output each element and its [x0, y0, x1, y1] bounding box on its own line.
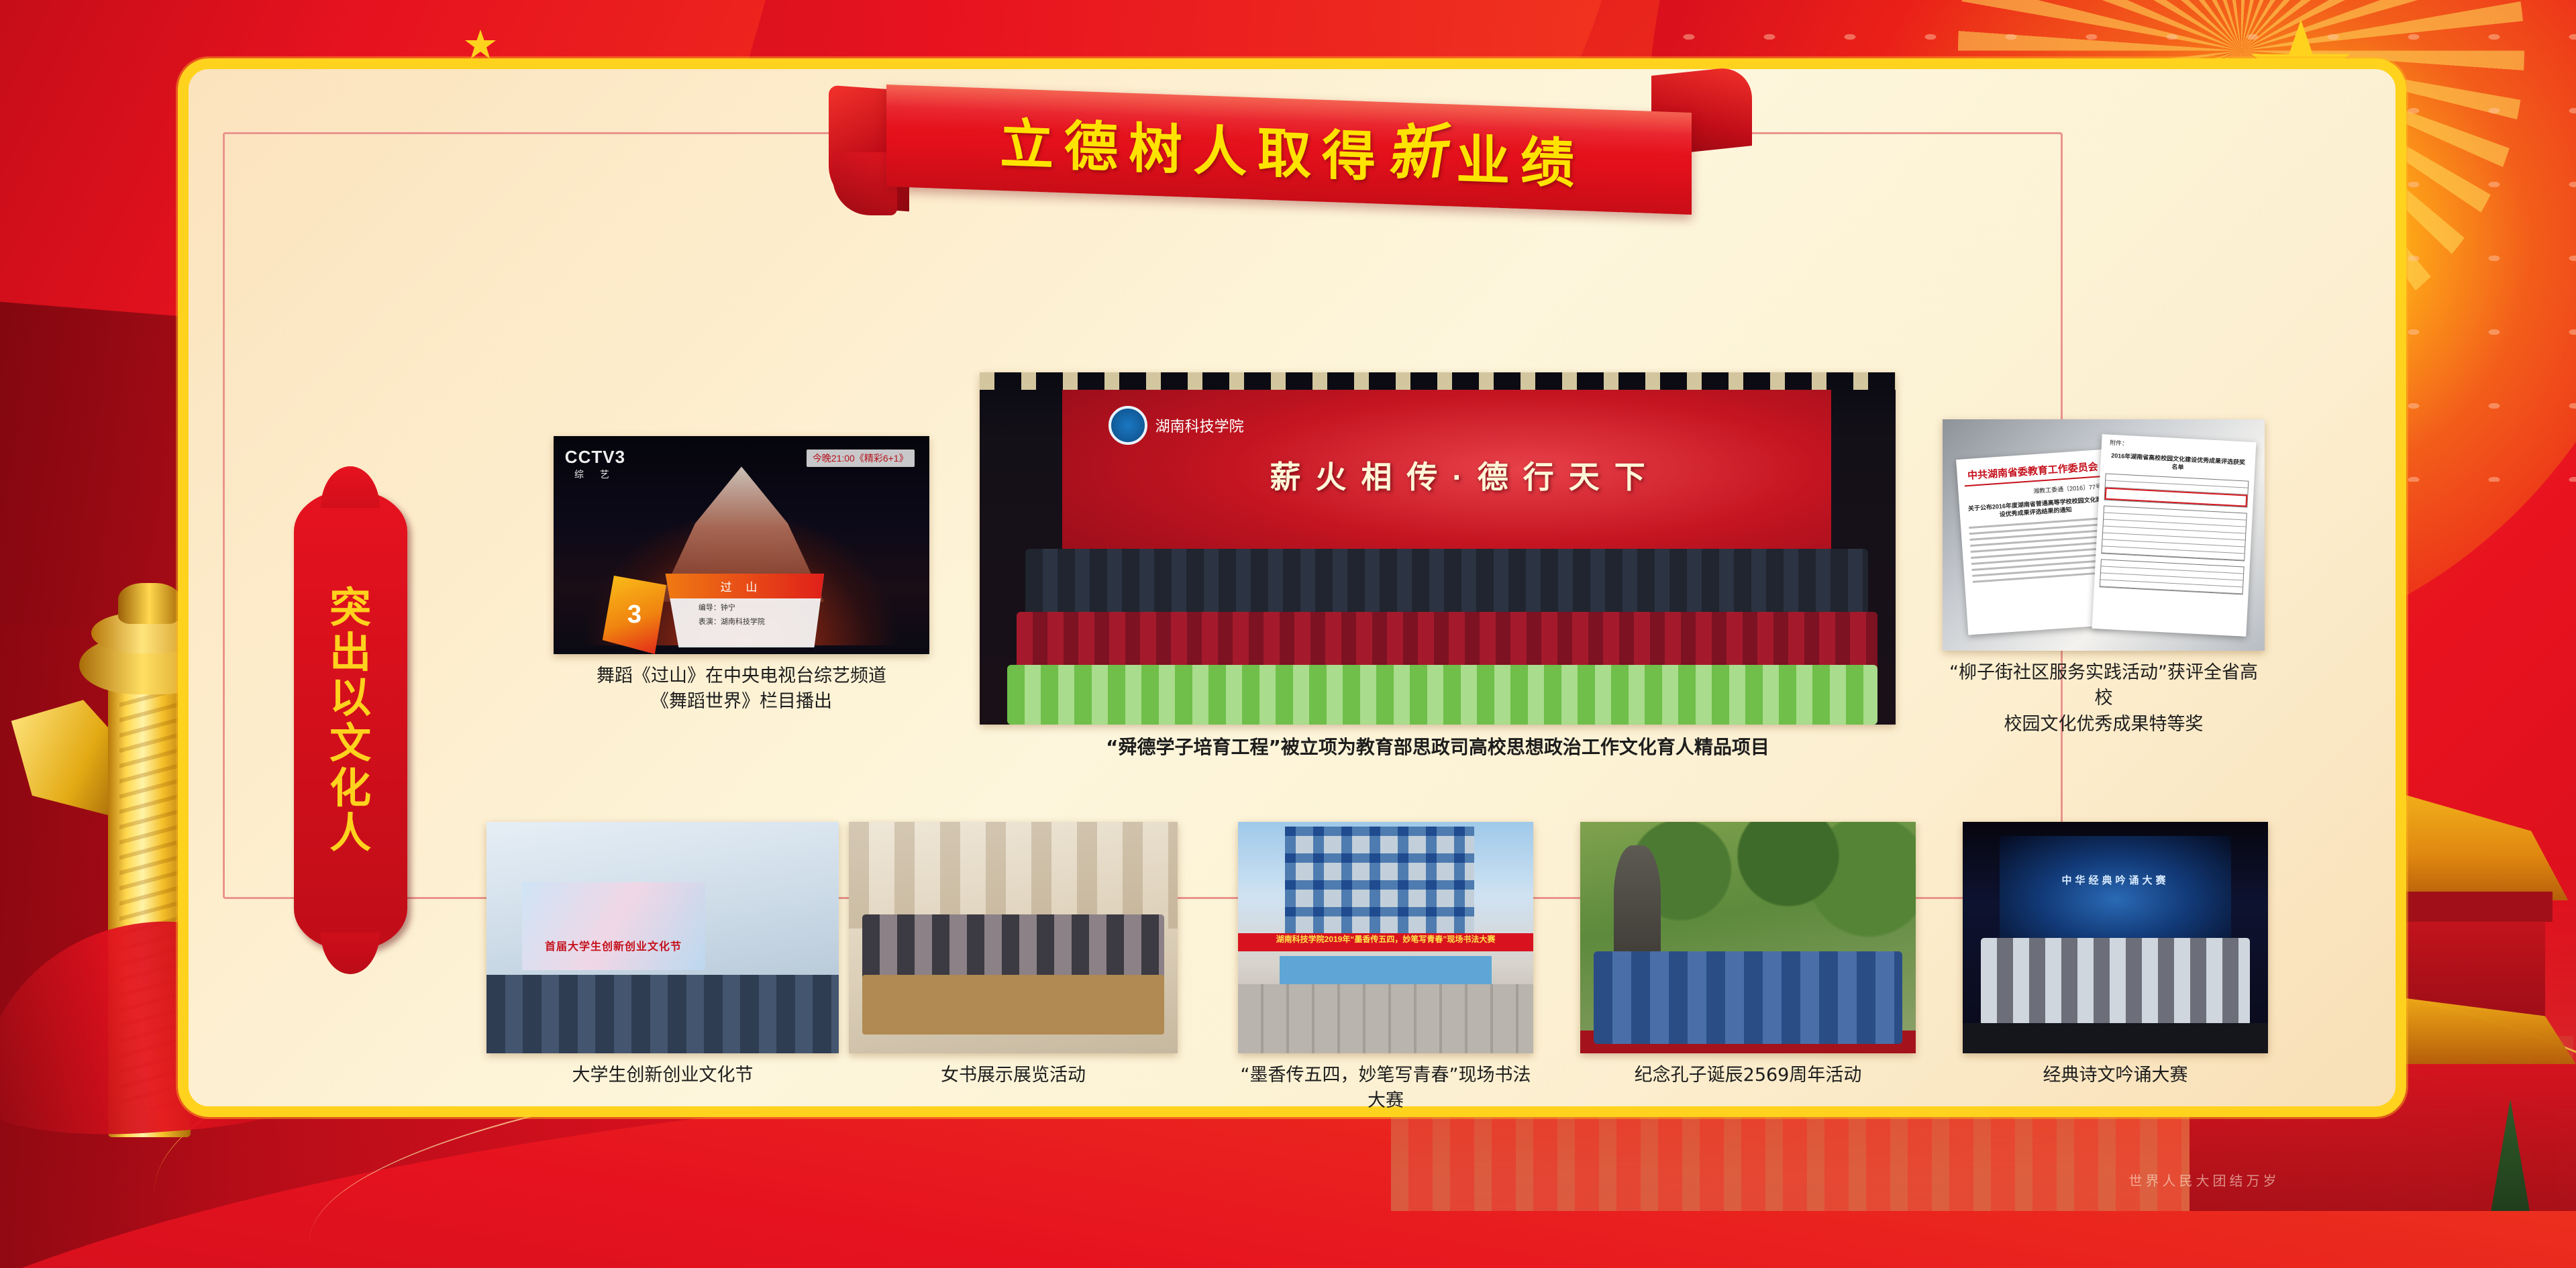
cctv-channel-number: 3: [615, 447, 625, 467]
caption-calligraphy: “墨香传五四，妙笔写青春”现场书法大赛: [1238, 1063, 1533, 1114]
media-item-confucius[interactable]: 纪念孔子诞辰2569周年活动: [1580, 822, 1916, 1088]
exhibition-wall-frames: [849, 822, 1178, 929]
photo-nushu-exhibition[interactable]: [849, 822, 1178, 1053]
program-performer: 表演：湖南科技学院: [659, 613, 824, 627]
stage-lights: [980, 372, 1896, 390]
title-char-8: 绩: [1521, 119, 1578, 199]
caption-nushu: 女书展示展览活动: [849, 1063, 1178, 1088]
stage-slogan: 薪火相传·德行天下: [1270, 453, 1659, 497]
caption-documents: “柳子街社区服务实践活动”获评全省高校 校园文化优秀成果特等奖: [1943, 660, 2265, 737]
title-char-6-emphasis: 新: [1382, 103, 1452, 192]
vertical-theme-plaque: 突 出 以 文 化 人: [294, 490, 407, 951]
photo-award-documents[interactable]: 中共湖南省委教育工作委员会 湘教工委通〔2016〕77号 关于公布2016年度湖…: [1943, 419, 2265, 651]
title-char-7: 业: [1456, 117, 1514, 197]
exhibition-table: [862, 975, 1165, 1035]
media-item-documents[interactable]: 中共湖南省委教育工作委员会 湘教工委通〔2016〕77号 关于公布2016年度湖…: [1943, 419, 2265, 737]
doc-table-first: [2102, 505, 2248, 561]
gate-pine-tree: [2491, 1099, 2530, 1211]
caption-stage: “舜德学子培育工程”被立项为教育部思政司高校思想政治工作文化育人精品项目: [980, 734, 1896, 761]
photo-innovation-festival[interactable]: 首届大学生创新创业文化节 开幕式暨创新创业形势报告会: [486, 822, 839, 1053]
plaque-char-3: 文: [329, 722, 371, 764]
recitation-screen: 中华经典吟诵大赛: [2000, 836, 2232, 943]
title-char-4: 取: [1257, 109, 1315, 189]
doc-left-body: [1969, 517, 2108, 583]
cctv-logo: CCTV3 综 艺: [565, 447, 625, 481]
plaza-ground: [1238, 984, 1533, 1054]
doc-right-title: 2016年湖南省高校校园文化建设优秀成果评选获奖名单: [2109, 451, 2248, 475]
photo-poetry-recitation[interactable]: 中华经典吟诵大赛: [1963, 822, 2268, 1053]
title-char-3: 人: [1192, 107, 1250, 187]
media-item-innovation[interactable]: 首届大学生创新创业文化节 开幕式暨创新创业形势报告会 大学生创新创业文化节: [486, 822, 839, 1088]
huabiao-beast: [118, 583, 181, 624]
plaque-char-5: 人: [329, 812, 371, 854]
campus-building: [1285, 827, 1474, 933]
huabiao-cloud-left: [11, 700, 127, 816]
photo-stage-group[interactable]: 湖南科技学院 薪火相传·德行天下: [980, 372, 1896, 725]
media-item-cctv[interactable]: CCTV3 综 艺 今晚21:00《精彩6+1》 过 山 编导：钟宁 表演：湖南…: [554, 436, 929, 715]
audience-row-green-dresses: [1007, 665, 1877, 725]
title-char-0: 立: [999, 101, 1057, 180]
title-char-5: 得: [1321, 112, 1379, 192]
gate-wall-slogan: 世界人民大团结万岁: [2129, 1170, 2280, 1190]
school-name: 湖南科技学院: [1155, 415, 1244, 436]
headline-ribbon: 立 德 树 人 取 得 新 业 绩: [829, 81, 1748, 215]
program-director: 编导：钟宁: [659, 598, 824, 613]
plaque-char-0: 突: [329, 586, 371, 629]
document-winner-list: 附件： 2016年湖南省高校校园文化建设优秀成果评选获奖名单: [2092, 434, 2257, 636]
flag-star-small-1: [464, 28, 497, 62]
broadcast-ticker: 今晚21:00《精彩6+1》: [807, 450, 915, 467]
channel-badge: 3: [603, 576, 666, 654]
propaganda-board: 世界人民大团结万岁 立 德 树 人 取 得 新 业 绩 突 出 以 文 化 人: [0, 0, 2576, 1268]
school-logo: 湖南科技学院: [1109, 406, 1244, 445]
media-item-poetry[interactable]: 中华经典吟诵大赛 经典诗文吟诵大赛: [1963, 822, 2268, 1088]
title-char-1: 德: [1064, 103, 1121, 182]
festival-backdrop: 首届大学生创新创业文化节 开幕式暨创新创业形势报告会: [522, 882, 705, 970]
recitation-screen-text: 中华经典吟诵大赛: [2000, 873, 2232, 887]
stage-floor: [1963, 1023, 2268, 1053]
school-logo-ring: [1109, 406, 1147, 445]
contest-banner: 湖南科技学院2019年“墨香传五四，妙笔写青春”现场书法大赛: [1238, 933, 1533, 952]
photo-cctv-dance-broadcast[interactable]: CCTV3 综 艺 今晚21:00《精彩6+1》 过 山 编导：钟宁 表演：湖南…: [554, 436, 929, 654]
caption-poetry: 经典诗文吟诵大赛: [1963, 1063, 2268, 1088]
media-item-calligraphy[interactable]: 湖南科技学院2019年“墨香传五四，妙笔写青春”现场书法大赛 “墨香传五四，妙笔…: [1238, 822, 1533, 1114]
cctv-logo-text: CCTV: [565, 447, 615, 467]
headline-title: 立 德 树 人 取 得 新 业 绩: [886, 85, 1692, 215]
recitation-participants: [1981, 938, 2249, 1026]
caption-innovation: 大学生创新创业文化节: [486, 1063, 839, 1088]
plaque-char-4: 化: [329, 767, 371, 809]
festival-banner-line1: 首届大学生创新创业文化节: [522, 937, 705, 953]
plaque-char-2: 以: [329, 676, 371, 719]
cctv-channel-sub: 综 艺: [565, 468, 625, 481]
doc-left-title: 中共湖南省委教育工作委员会: [1961, 459, 2105, 483]
caption-cctv: 舞蹈《过山》在中央电视台综艺频道 《舞蹈世界》栏目播出: [554, 664, 929, 715]
photo-calligraphy-contest[interactable]: 湖南科技学院2019年“墨香传五四，妙笔写青春”现场书法大赛: [1238, 822, 1533, 1053]
doc-table-special: [2104, 473, 2249, 507]
contest-banner-text: 湖南科技学院2019年“墨香传五四，妙笔写青春”现场书法大赛: [1238, 933, 1533, 946]
media-item-stage[interactable]: 湖南科技学院 薪火相传·德行天下 “舜德学子培育工程”被立项为教育部思政司高校思…: [980, 372, 1896, 761]
program-title: 过 山: [659, 574, 824, 599]
title-char-2: 树: [1128, 105, 1186, 185]
program-title-card: 过 山 编导：钟宁 表演：湖南科技学院: [659, 574, 824, 648]
doc-table-second: [2100, 559, 2245, 594]
ceremony-participants: [1594, 951, 1902, 1044]
photo-confucius-ceremony[interactable]: [1580, 822, 1916, 1053]
media-item-nushu[interactable]: 女书展示展览活动: [849, 822, 1178, 1088]
caption-confucius: 纪念孔子诞辰2569周年活动: [1580, 1063, 1916, 1088]
plaque-char-1: 出: [329, 631, 371, 674]
audience-seats: [486, 975, 839, 1053]
